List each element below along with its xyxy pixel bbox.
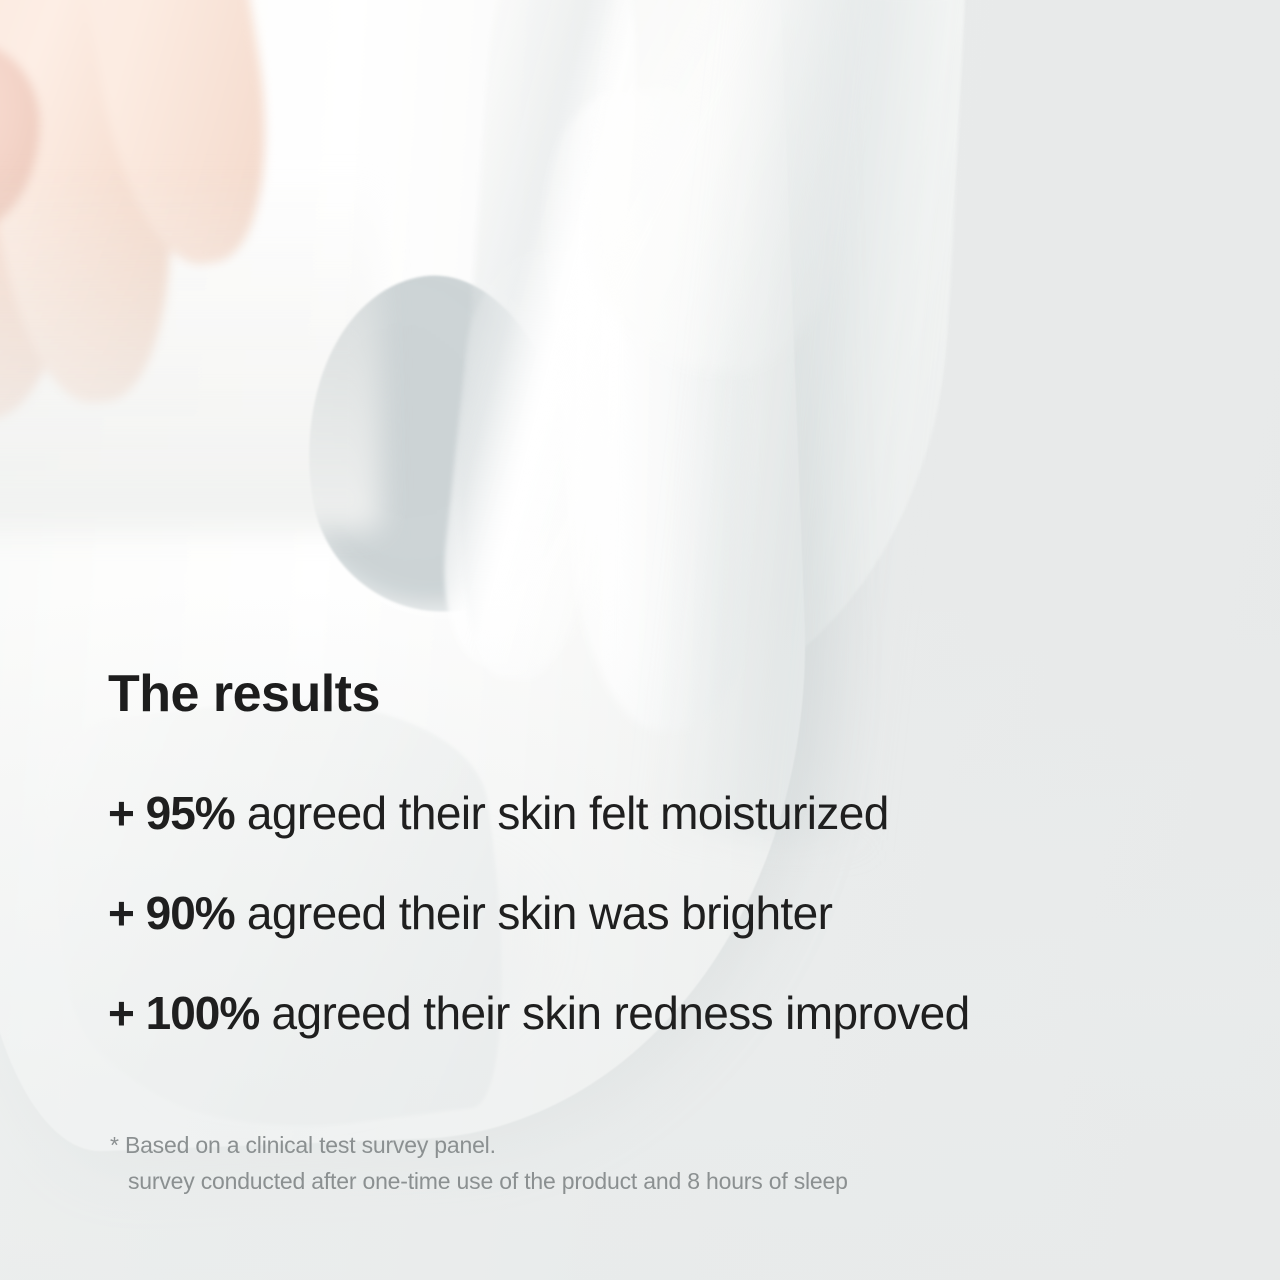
footnote: * Based on a clinical test survey panel.… xyxy=(110,1128,848,1199)
result-item-moisturized: + 95% agreed their skin felt moisturized xyxy=(108,790,1228,836)
result-percent-2: + 90% xyxy=(108,887,235,939)
result-item-brighter: + 90% agreed their skin was brighter xyxy=(108,890,1228,936)
product-results-card: The results + 95% agreed their skin felt… xyxy=(0,0,1280,1280)
footnote-line-1: * Based on a clinical test survey panel. xyxy=(110,1132,496,1158)
result-percent-3: + 100% xyxy=(108,987,259,1039)
result-text-2: agreed their skin was brighter xyxy=(235,887,833,939)
result-percent-1: + 95% xyxy=(108,787,235,839)
text-overlay: The results + 95% agreed their skin felt… xyxy=(0,0,1280,1280)
page-title: The results xyxy=(108,668,380,720)
results-list: + 95% agreed their skin felt moisturized… xyxy=(108,790,1228,1090)
result-text-1: agreed their skin felt moisturized xyxy=(235,787,889,839)
result-item-redness: + 100% agreed their skin redness improve… xyxy=(108,990,1228,1036)
result-text-3: agreed their skin redness improved xyxy=(259,987,969,1039)
footnote-line-2: survey conducted after one-time use of t… xyxy=(110,1164,848,1200)
